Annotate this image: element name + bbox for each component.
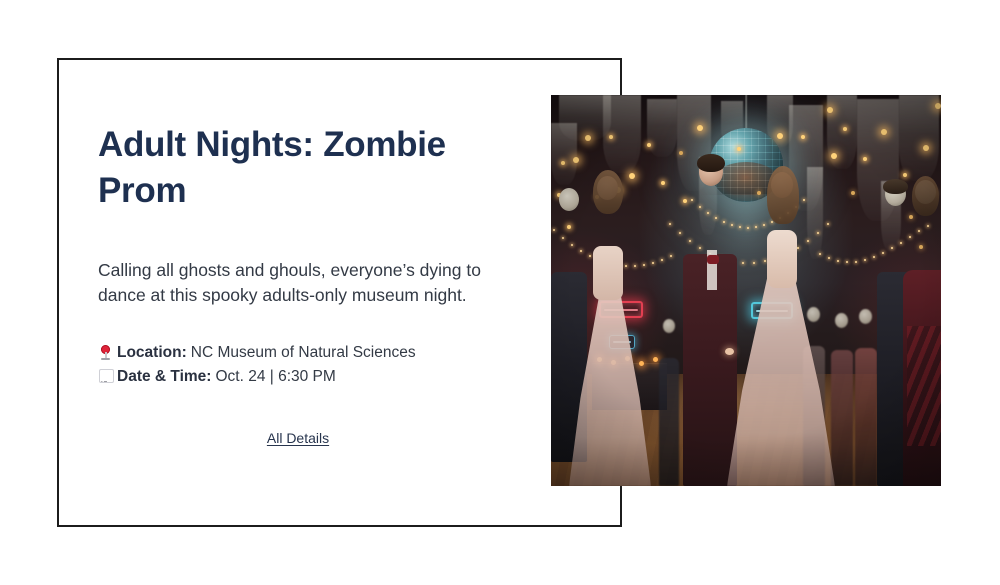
- details-link-container: All Details: [98, 428, 498, 448]
- dancer-figure-lead-woman: [727, 160, 835, 486]
- location-value: NC Museum of Natural Sciences: [191, 341, 416, 364]
- crowd-figure: [657, 319, 681, 486]
- calendar-day-number: 17: [100, 381, 107, 383]
- location-pin-icon: [98, 341, 117, 364]
- dancer-figure: [573, 170, 647, 486]
- string-light-bulb: [851, 191, 855, 195]
- string-light-bulb: [647, 143, 651, 147]
- event-meta-list: Location: NC Museum of Natural Sciences …: [98, 341, 498, 388]
- event-card-content: Adult Nights: Zombie Prom Calling all gh…: [98, 122, 498, 448]
- string-light-bulb: [831, 153, 837, 159]
- disco-ball-stem: [745, 95, 747, 129]
- event-photo: [551, 95, 941, 486]
- datetime-value: Oct. 24 | 6:30 PM: [215, 365, 335, 388]
- string-light-bulb: [585, 135, 591, 141]
- string-light-bulb: [881, 129, 887, 135]
- string-light-bulb: [697, 125, 703, 131]
- meta-row-datetime: 17 Date & Time: Oct. 24 | 6:30 PM: [98, 365, 498, 388]
- cobweb-icon: [899, 95, 939, 181]
- event-description: Calling all ghosts and ghouls, everyone’…: [98, 258, 490, 307]
- datetime-label: Date & Time:: [117, 365, 211, 388]
- string-light-bulb: [801, 135, 805, 139]
- string-light-bulb: [661, 181, 665, 185]
- dancer-figure: [903, 176, 941, 486]
- string-light-bulb: [923, 145, 929, 151]
- event-card-stage: Adult Nights: Zombie Prom Calling all gh…: [0, 0, 1000, 585]
- meta-row-location: Location: NC Museum of Natural Sciences: [98, 341, 498, 364]
- cobweb-icon: [603, 95, 641, 173]
- string-light-bulb: [863, 157, 867, 161]
- crowd-figure: [853, 309, 879, 486]
- string-light-bulb: [561, 161, 565, 165]
- page-title: Adult Nights: Zombie Prom: [98, 122, 478, 214]
- string-light-bulb: [843, 127, 847, 131]
- event-card-outline: Adult Nights: Zombie Prom Calling all gh…: [57, 58, 622, 527]
- string-light-bulb: [679, 151, 683, 155]
- string-light-bulb: [737, 147, 741, 151]
- string-light-bulb: [827, 107, 833, 113]
- cobweb-icon: [647, 99, 677, 157]
- calendar-icon: 17: [98, 365, 117, 388]
- joined-hands-highlight: [725, 348, 734, 355]
- string-light-bulb: [573, 157, 579, 163]
- string-light-bulb: [777, 133, 783, 139]
- all-details-link[interactable]: All Details: [267, 428, 329, 448]
- location-label: Location:: [117, 341, 187, 364]
- string-light-bulb: [609, 135, 613, 139]
- string-light-bulb: [935, 103, 941, 109]
